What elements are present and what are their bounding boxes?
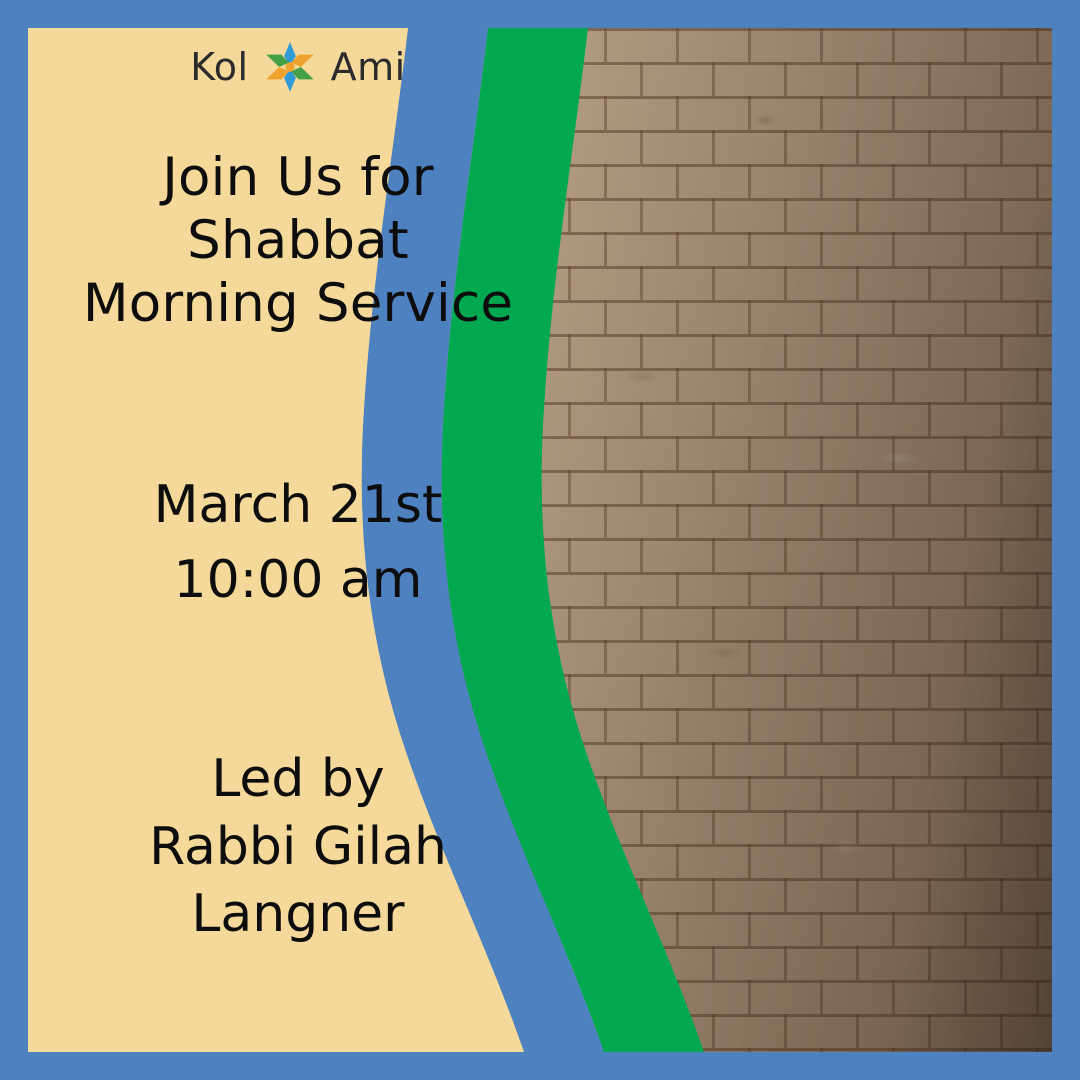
logo-word-kol: Kol: [190, 45, 248, 89]
logo-word-ami: Ami: [331, 45, 406, 89]
star-of-david-icon: [263, 40, 317, 94]
leader-surname: Langner: [28, 881, 568, 949]
headline-line-1: Join Us for: [28, 146, 568, 209]
inner-canvas: Kol: [28, 28, 1052, 1052]
flyer-canvas: Kol: [0, 0, 1080, 1080]
service-leader: Led by Rabbi Gilah Langner: [28, 746, 568, 949]
headline: Join Us for Shabbat Morning Service: [28, 146, 568, 335]
content-column: Kol: [28, 28, 568, 1052]
event-date: March 21st: [28, 468, 568, 543]
leader-name: Rabbi Gilah: [28, 814, 568, 882]
event-time: 10:00 am: [28, 543, 568, 618]
kol-ami-logo: Kol: [28, 40, 568, 94]
event-datetime: March 21st 10:00 am: [28, 468, 568, 618]
headline-line-2: Shabbat: [28, 209, 568, 272]
headline-line-3: Morning Service: [28, 272, 568, 335]
leader-prefix: Led by: [28, 746, 568, 814]
